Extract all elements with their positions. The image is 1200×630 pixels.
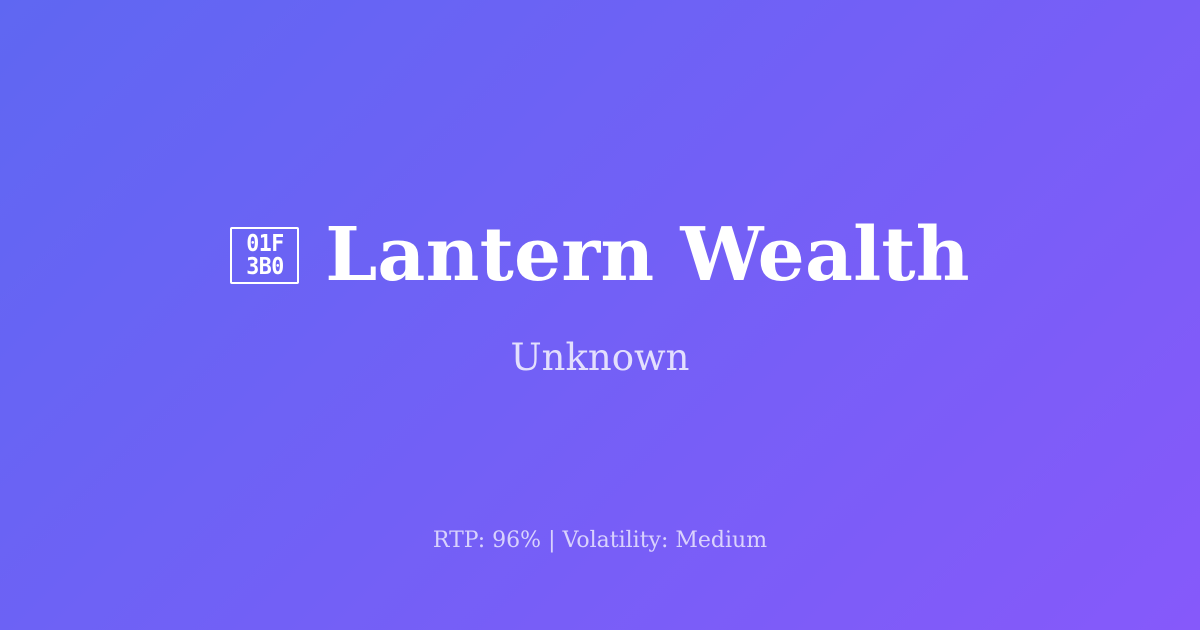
- game-meta-line: RTP: 96% | Volatility: Medium: [433, 528, 767, 553]
- og-card: 01F 3B0 Lantern Wealth Unknown RTP: 96% …: [0, 0, 1200, 630]
- slot-machine-icon-codepoint-low: 3B0: [246, 256, 284, 279]
- slot-machine-icon: 01F 3B0: [230, 227, 299, 284]
- meta-footer: RTP: 96% | Volatility: Medium: [0, 528, 1200, 554]
- page-subtitle: Unknown: [510, 294, 689, 379]
- hero-row: 01F 3B0 Lantern Wealth: [230, 217, 970, 294]
- page-title: Lantern Wealth: [325, 217, 970, 294]
- slot-machine-icon-codepoint-high: 01F: [246, 233, 284, 256]
